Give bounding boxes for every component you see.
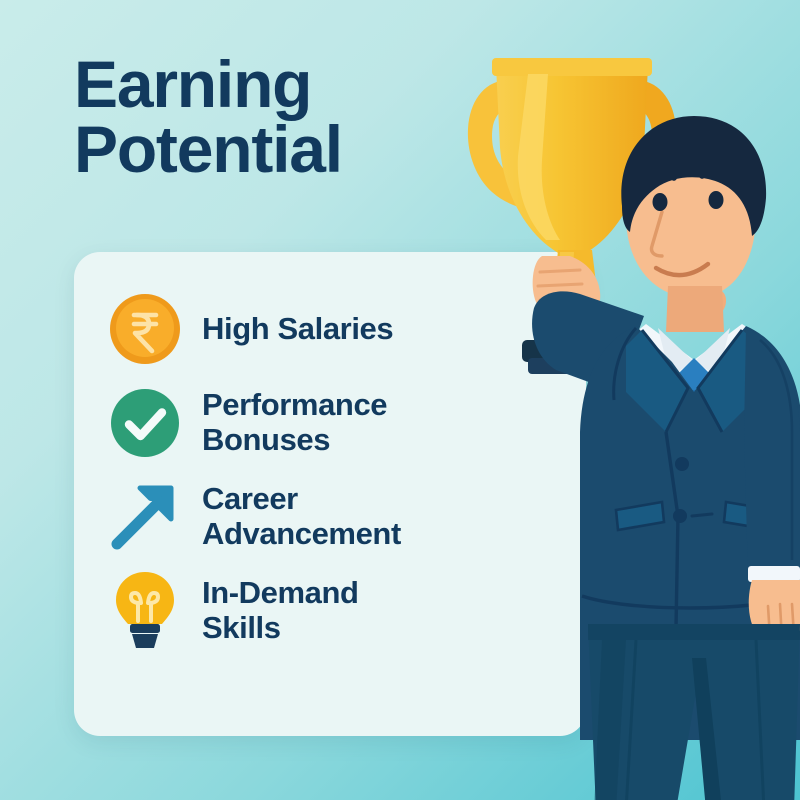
page-title: Earning Potential xyxy=(74,52,494,181)
list-item-label: In-Demand Skills xyxy=(202,576,359,645)
trending-up-arrow-icon xyxy=(102,474,188,560)
check-circle-icon xyxy=(102,380,188,466)
list-item-label: High Salaries xyxy=(202,312,393,347)
list-item-label: Performance Bonuses xyxy=(202,388,387,457)
earning-potential-poster: Earning Potential High Salar xyxy=(0,0,800,800)
lightbulb-icon xyxy=(102,568,188,654)
rupee-coin-icon xyxy=(102,286,188,372)
list-item-label: Career Advancement xyxy=(202,482,401,551)
